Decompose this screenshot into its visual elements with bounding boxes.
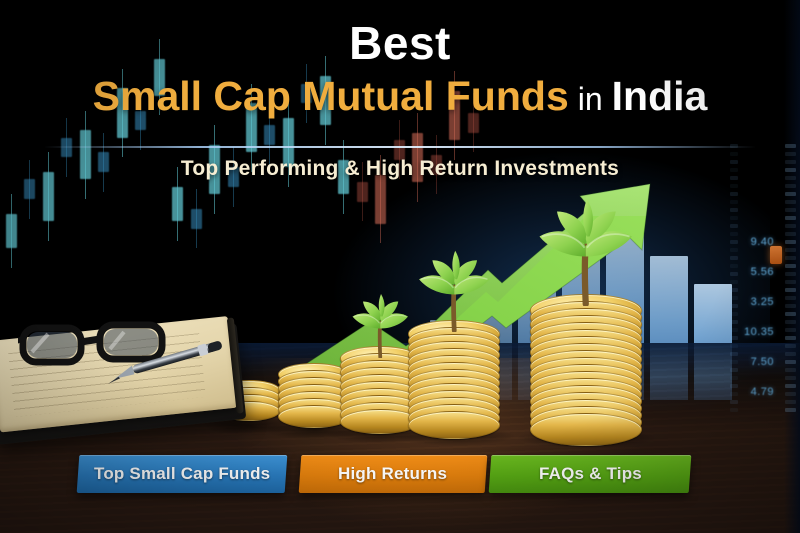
ticker-scale-mark (785, 376, 796, 380)
ticker-scale-mark-secondary (730, 400, 738, 404)
ticker-scale-mark (785, 216, 796, 220)
coin-stack (530, 294, 642, 442)
cta-button-row: Top Small Cap FundsHigh ReturnsFAQs & Ti… (78, 455, 738, 495)
ticker-scale-mark (785, 240, 796, 244)
ticker-scale-mark-secondary (730, 208, 738, 212)
ticker-scale-mark (785, 360, 796, 364)
ticker-scale-mark (785, 224, 796, 228)
ticker-scale-mark-secondary (730, 296, 738, 300)
high-returns-button[interactable]: High Returns (299, 455, 488, 493)
ticker-scale-mark (785, 184, 796, 188)
ticker-scale-mark-secondary (730, 200, 738, 204)
subtitle-text: Top Performing & High Return Investments (0, 157, 800, 181)
button-label: FAQs & Tips (539, 464, 642, 484)
ticker-scale-mark (785, 328, 796, 332)
ticker-scale-mark-secondary (730, 184, 738, 188)
ticker-scale-mark (785, 344, 796, 348)
ticker-scale-mark (785, 264, 796, 268)
ticker-scale-mark-secondary (730, 376, 738, 380)
ticker-scale-mark (785, 392, 796, 396)
seedling-plant-icon (517, 194, 655, 307)
ticker-scale-mark (785, 352, 796, 356)
ticker-scale-mark (785, 248, 796, 252)
ticker-scale-mark-secondary (730, 216, 738, 220)
ticker-value: 10.35 (744, 326, 774, 338)
ticker-scale-mark-secondary (730, 192, 738, 196)
ticker-scale-mark (785, 384, 796, 388)
banner-image: 9.405.563.2510.357.504.79 Best Small Cap… (0, 0, 800, 533)
ticker-scale-mark-secondary (730, 328, 738, 332)
ticker-scale-mark (785, 280, 796, 284)
ticker-scale-mark (785, 144, 796, 148)
ticker-scale-mark (785, 208, 796, 212)
coin (408, 411, 500, 439)
ticker-scale-mark-secondary (730, 368, 738, 372)
headline-gold-text: Small Cap Mutual Funds (93, 73, 569, 119)
ticker-scale-mark (785, 368, 796, 372)
ticker-scale-mark-secondary (730, 336, 738, 340)
top-small-cap-funds-button[interactable]: Top Small Cap Funds (77, 455, 288, 493)
headline-line-2: Small Cap Mutual FundsinIndia (0, 72, 800, 121)
ticker-scale-mark (785, 408, 796, 412)
headline-divider (44, 146, 756, 148)
ticker-scale-mark-secondary (730, 224, 738, 228)
coin (530, 413, 642, 446)
headline-line-1: Best (0, 18, 800, 70)
seedling-plant-icon (402, 247, 507, 333)
button-label: High Returns (338, 464, 447, 484)
ticker-scale-mark-secondary (730, 392, 738, 396)
ticker-scale-mark (785, 336, 796, 340)
ticker-scale-mark-secondary (730, 360, 738, 364)
ticker-scale-mark (785, 288, 796, 292)
ticker-value: 3.25 (751, 296, 774, 308)
ticker-highlight-marker (770, 246, 782, 264)
ticker-scale-mark (785, 400, 796, 404)
ticker-scale-mark (785, 272, 796, 276)
headline-group: Best Small Cap Mutual FundsinIndia (0, 18, 800, 121)
ticker-scale-mark-secondary (730, 264, 738, 268)
ticker-scale-mark-secondary (730, 152, 738, 156)
ticker-scale-mark-secondary (730, 272, 738, 276)
ticker-scale-mark (785, 320, 796, 324)
ticker-scale-mark (785, 152, 796, 156)
ticker-scale-mark-secondary (730, 320, 738, 324)
ticker-scale-mark-secondary (730, 344, 738, 348)
ticker-scale-mark-secondary (730, 248, 738, 252)
ticker-scale-mark-secondary (730, 304, 738, 308)
ticker-scale-mark (785, 312, 796, 316)
ticker-scale-mark-secondary (730, 352, 738, 356)
ticker-value: 7.50 (751, 356, 774, 368)
ticker-value: 4.79 (751, 386, 774, 398)
ticker-scale-mark-secondary (730, 408, 738, 412)
ticker-scale-mark (785, 192, 796, 196)
ticker-scale-mark-secondary (730, 232, 738, 236)
ticker-scale-mark-secondary (730, 240, 738, 244)
ticker-scale-mark (785, 232, 796, 236)
coin-stack (408, 320, 500, 440)
ticker-scale-mark-secondary (730, 280, 738, 284)
ticker-scale-mark-secondary (730, 288, 738, 292)
button-label: Top Small Cap Funds (94, 464, 270, 484)
ticker-value: 5.56 (751, 266, 774, 278)
ticker-scale-mark (785, 200, 796, 204)
ticker-scale-mark (785, 304, 796, 308)
ticker-scale-mark-secondary (730, 384, 738, 388)
headline-country-text: India (612, 73, 708, 119)
headline-connector-text: in (578, 81, 603, 117)
faqs-tips-button[interactable]: FAQs & Tips (489, 455, 692, 493)
ticker-scale-mark (785, 256, 796, 260)
ticker-scale-mark-secondary (730, 256, 738, 260)
ticker-scale-mark (785, 296, 796, 300)
ticker-scale-mark-secondary (730, 312, 738, 316)
